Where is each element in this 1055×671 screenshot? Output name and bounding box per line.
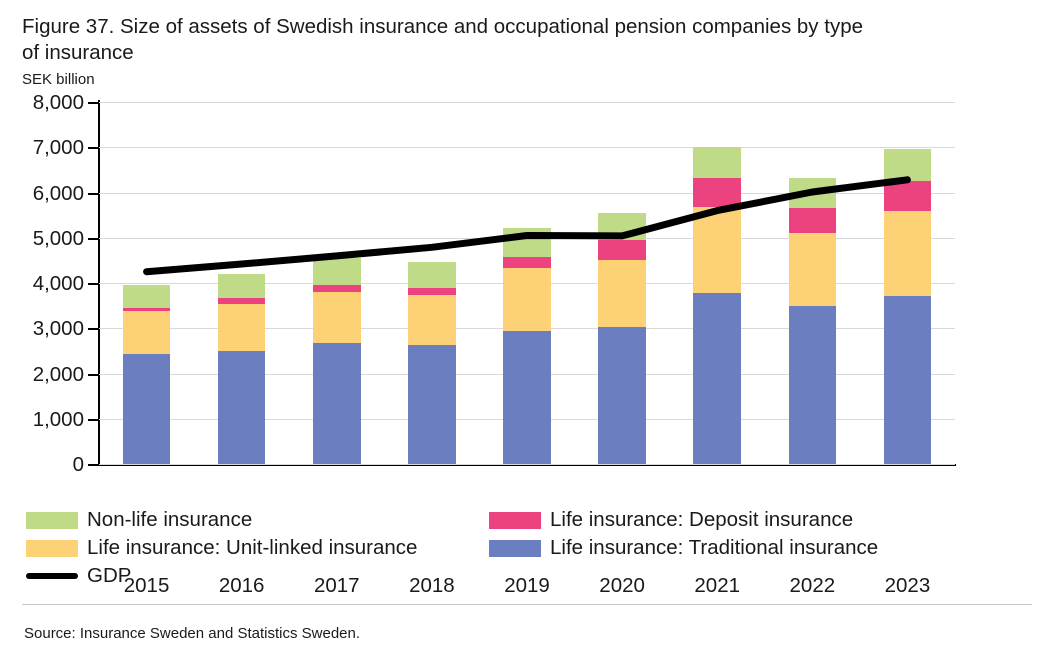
legend-item-label: Life insurance: Deposit insurance: [550, 508, 853, 532]
chart-figure: 01,0002,0003,0004,0005,0006,0007,0008,00…: [0, 92, 1055, 482]
legend-item-non-life-insurance[interactable]: Non-life insurance: [26, 508, 489, 532]
y-axis-tick-mark: [88, 238, 98, 240]
y-axis-tick-label: 6,000: [0, 183, 84, 204]
y-axis-tick-label: 2,000: [0, 364, 84, 385]
page-title: Figure 37. Size of assets of Swedish ins…: [22, 14, 882, 66]
y-axis-tick-mark: [88, 283, 98, 285]
legend-item-label: Non-life insurance: [87, 508, 252, 532]
y-axis-tick-labels: 01,0002,0003,0004,0005,0006,0007,0008,00…: [0, 92, 84, 482]
y-axis-tick-mark: [88, 464, 98, 466]
legend-item-gdp[interactable]: GDP: [26, 564, 489, 588]
source-note: Source: Insurance Sweden and Statistics …: [24, 624, 360, 643]
legend-swatch-icon: [26, 540, 78, 557]
footer-divider: [22, 604, 1032, 605]
legend-swatch-icon: [26, 512, 78, 529]
title-block: Figure 37. Size of assets of Swedish ins…: [22, 14, 882, 89]
legend-row: GDP: [26, 562, 926, 590]
y-axis-tick-label: 7,000: [0, 138, 84, 159]
legend-line-icon: [26, 573, 78, 579]
legend-item-unit-linked-insurance[interactable]: Life insurance: Unit-linked insurance: [26, 536, 489, 560]
legend-row: Non-life insurance Life insurance: Depos…: [26, 506, 926, 534]
gdp-line-series: [99, 102, 955, 464]
y-axis-tick-mark: [88, 374, 98, 376]
legend-row: Life insurance: Unit-linked insurance Li…: [26, 534, 926, 562]
gridline: [99, 464, 955, 465]
y-axis-tick-label: 0: [0, 455, 84, 476]
gdp-line-path: [147, 180, 908, 272]
legend-item-label: GDP: [87, 564, 131, 588]
y-axis-tick-mark: [88, 147, 98, 149]
legend-item-label: Life insurance: Traditional insurance: [550, 536, 878, 560]
y-axis-tick-label: 3,000: [0, 319, 84, 340]
legend-item-deposit-insurance[interactable]: Life insurance: Deposit insurance: [489, 508, 853, 532]
legend-item-label: Life insurance: Unit-linked insurance: [87, 536, 417, 560]
axis-units-label: SEK billion: [22, 71, 882, 89]
chart-legend: Non-life insurance Life insurance: Depos…: [26, 506, 926, 590]
y-axis-tick-mark: [88, 193, 98, 195]
plot-area: [99, 102, 955, 464]
y-axis-tick-label: 5,000: [0, 229, 84, 250]
y-axis-tick-label: 1,000: [0, 410, 84, 431]
legend-swatch-icon: [489, 512, 541, 529]
y-axis-tick-label: 8,000: [0, 93, 84, 114]
legend-swatch-icon: [489, 540, 541, 557]
y-axis-tick-label: 4,000: [0, 274, 84, 295]
legend-item-traditional-insurance[interactable]: Life insurance: Traditional insurance: [489, 536, 878, 560]
y-axis-tick-mark: [88, 328, 98, 330]
y-axis-tick-mark: [88, 102, 98, 104]
y-axis-tick-mark: [88, 419, 98, 421]
